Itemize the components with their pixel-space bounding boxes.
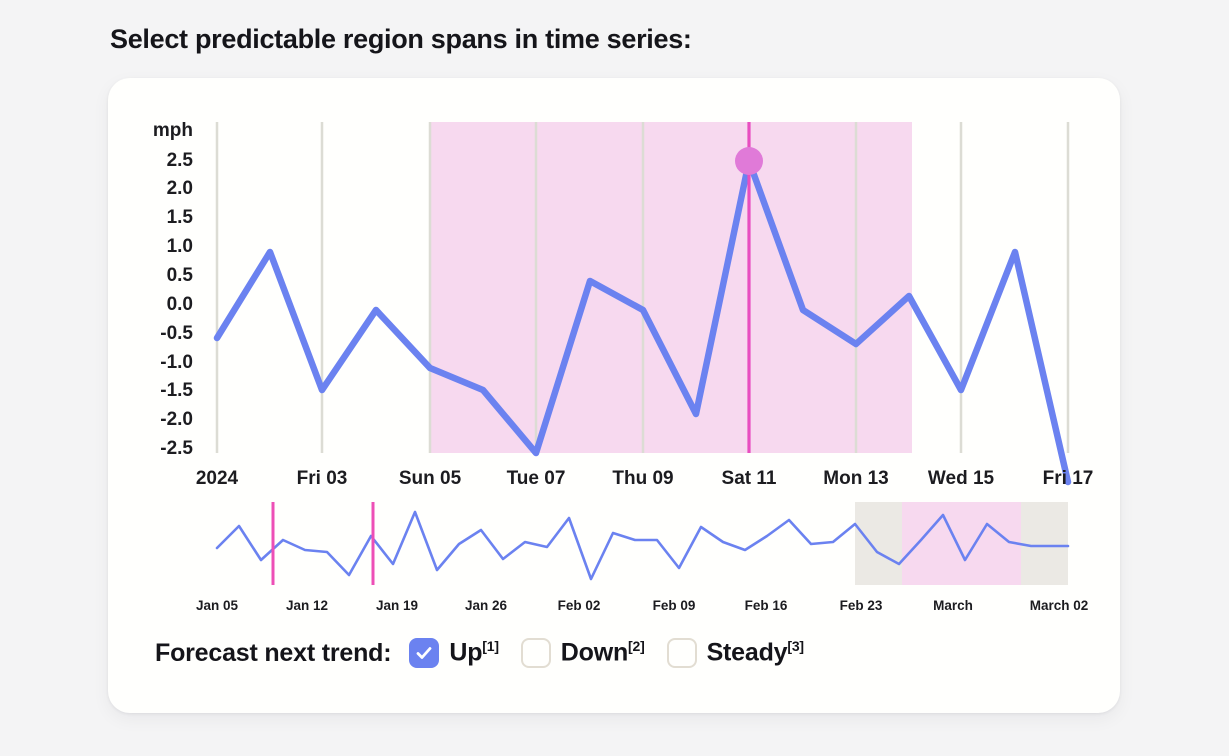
- x-tick: Sat 11: [722, 468, 777, 489]
- x-tick: Sun 05: [399, 468, 462, 489]
- navigator-tick: Feb 09: [653, 598, 696, 613]
- y-axis-unit: mph: [153, 120, 193, 141]
- x-tick: 2024: [196, 468, 239, 489]
- y-tick: 2.0: [167, 178, 193, 199]
- navigator-axis-labels: Jan 05 Jan 12 Jan 19 Jan 26 Feb 02 Feb 0…: [196, 598, 1088, 613]
- checkbox-up[interactable]: [409, 638, 439, 668]
- x-axis-labels: 2024 Fri 03 Sun 05 Tue 07 Thu 09 Sat 11 …: [196, 468, 1093, 489]
- y-tick: -2.5: [160, 438, 193, 459]
- navigator[interactable]: Jan 05 Jan 12 Jan 19 Jan 26 Feb 02 Feb 0…: [196, 502, 1088, 613]
- chart-area[interactable]: mph 2.5 2.0 1.5 1.0 0.5 0.0 -0.5 -1.0 -1…: [108, 78, 1120, 713]
- y-tick: 0.5: [167, 265, 194, 286]
- forecast-label: Forecast next trend:: [155, 639, 391, 668]
- gridlines: [217, 122, 1068, 453]
- checkbox-down[interactable]: [521, 638, 551, 668]
- y-axis-labels: mph 2.5 2.0 1.5 1.0 0.5 0.0 -0.5 -1.0 -1…: [153, 120, 194, 459]
- navigator-tick: Jan 12: [286, 598, 328, 613]
- y-tick: -1.5: [160, 380, 193, 401]
- x-tick: Thu 09: [612, 468, 673, 489]
- option-up-shortcut: [1]: [482, 638, 499, 654]
- navigator-tick: Jan 19: [376, 598, 418, 613]
- navigator-tick: Feb 02: [558, 598, 601, 613]
- check-icon: [414, 643, 434, 663]
- selection-band[interactable]: [430, 122, 912, 453]
- page-title: Select predictable region spans in time …: [110, 24, 692, 55]
- navigator-tick: March: [933, 598, 973, 613]
- x-tick: Mon 13: [823, 468, 888, 489]
- chart-card: mph 2.5 2.0 1.5 1.0 0.5 0.0 -0.5 -1.0 -1…: [108, 78, 1120, 713]
- option-steady-shortcut: [3]: [787, 638, 804, 654]
- x-tick: Fri 03: [297, 468, 348, 489]
- navigator-tick: Feb 16: [745, 598, 788, 613]
- checkbox-steady[interactable]: [667, 638, 697, 668]
- forecast-option-down-label: Down[2]: [561, 638, 645, 667]
- time-series-chart[interactable]: mph 2.5 2.0 1.5 1.0 0.5 0.0 -0.5 -1.0 -1…: [108, 78, 1120, 638]
- y-tick: 1.5: [167, 207, 194, 228]
- forecast-option-down[interactable]: Down[2]: [521, 638, 645, 668]
- option-steady-text: Steady: [707, 639, 788, 667]
- navigator-tick: March 02: [1030, 598, 1089, 613]
- y-tick: -0.5: [160, 323, 193, 344]
- y-tick: 2.5: [167, 150, 194, 171]
- option-down-text: Down: [561, 639, 628, 667]
- forecast-option-up-label: Up[1]: [449, 638, 498, 667]
- cursor-dot[interactable]: [735, 147, 763, 175]
- navigator-tick: Jan 26: [465, 598, 508, 613]
- navigator-tick: Feb 23: [840, 598, 883, 613]
- y-tick: -1.0: [160, 352, 193, 373]
- option-down-shortcut: [2]: [628, 638, 645, 654]
- x-tick: Fri 17: [1043, 468, 1094, 489]
- y-tick: 0.0: [167, 294, 193, 315]
- forecast-controls: Forecast next trend: Up[1] Down[2] Stead…: [155, 638, 826, 668]
- y-tick: 1.0: [167, 236, 193, 257]
- option-up-text: Up: [449, 639, 482, 667]
- navigator-tick: Jan 05: [196, 598, 239, 613]
- x-tick: Tue 07: [507, 468, 566, 489]
- forecast-option-steady[interactable]: Steady[3]: [667, 638, 804, 668]
- forecast-option-up[interactable]: Up[1]: [409, 638, 498, 668]
- x-tick: Wed 15: [928, 468, 995, 489]
- navigator-selection[interactable]: [902, 502, 1021, 585]
- forecast-option-steady-label: Steady[3]: [707, 638, 804, 667]
- y-tick: -2.0: [160, 409, 193, 430]
